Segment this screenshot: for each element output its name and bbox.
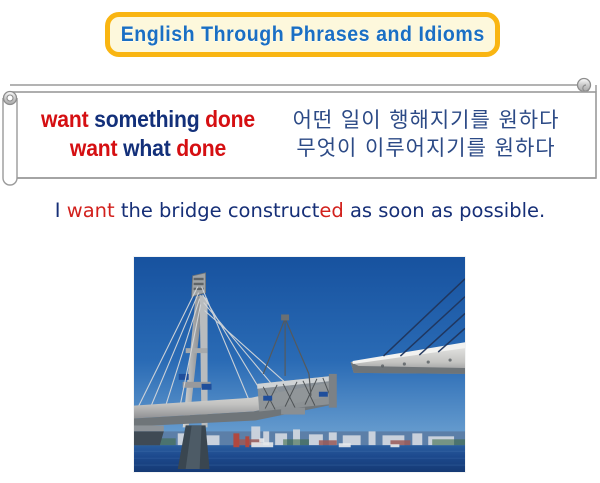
example-seg-3: the bridge construct bbox=[115, 199, 320, 222]
bridge-construction-photo bbox=[133, 256, 466, 473]
phrase-1-something: something bbox=[94, 106, 205, 132]
korean-translation-column: 어떤 일이 행해지기를 원하다 무엇이 이루어지기를 원하다 bbox=[274, 106, 578, 163]
bridge-photo-graphic bbox=[134, 257, 465, 472]
phrase-line-1: want something done bbox=[32, 105, 264, 134]
example-seg-ed: ed bbox=[319, 199, 343, 222]
example-seg-1: I bbox=[55, 199, 67, 222]
phrase-column: want something done want what done bbox=[32, 105, 264, 164]
korean-line-1: 어떤 일이 행해지기를 원하다 bbox=[274, 106, 578, 134]
scroll-content: want something done want what done 어떤 일이… bbox=[22, 98, 578, 170]
scroll-banner: want something done want what done 어떤 일이… bbox=[0, 76, 600, 194]
phrase-2-done: done bbox=[176, 135, 226, 161]
page-title: English Through Phrases and Idioms bbox=[120, 23, 484, 47]
phrase-line-2: want what done bbox=[32, 134, 264, 163]
example-seg-want: want bbox=[67, 199, 115, 222]
phrase-1-want: want bbox=[41, 106, 94, 132]
example-sentence: I want the bridge constructed as soon as… bbox=[0, 199, 600, 222]
phrase-1-done: done bbox=[205, 106, 255, 132]
phrase-2-want: want bbox=[70, 135, 123, 161]
example-seg-5: as soon as possible. bbox=[344, 199, 545, 222]
korean-line-2: 무엇이 이루어지기를 원하다 bbox=[274, 134, 578, 162]
slide-title-plate: English Through Phrases and Idioms bbox=[105, 12, 500, 57]
phrase-2-what: what bbox=[123, 135, 176, 161]
